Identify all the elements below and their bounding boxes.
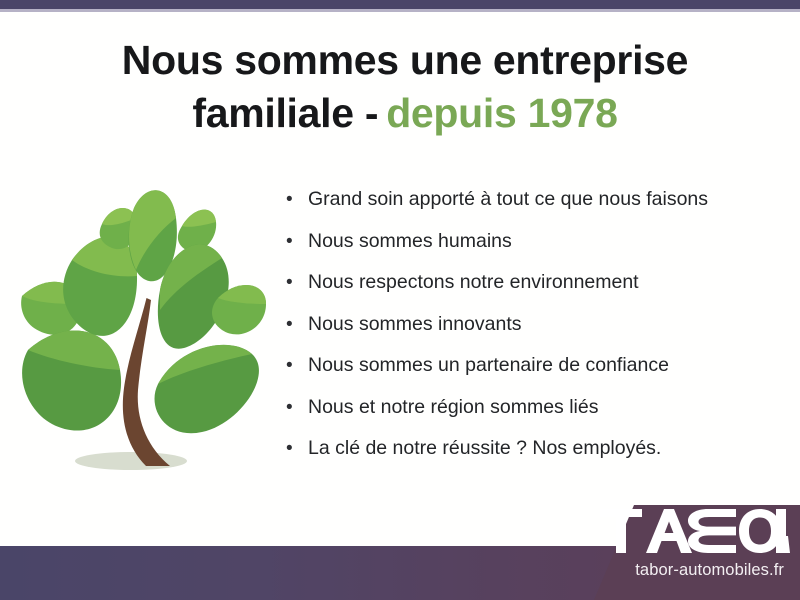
bullet-point-icon: • [286,398,308,417]
list-item: • Nous respectons notre environnement [286,273,756,315]
heading-line-1: Nous sommes une entreprise [122,37,688,83]
list-item-label: Grand soin apporté à tout ce que nous fa… [308,190,756,210]
list-item-label: Nous sommes un partenaire de confiance [308,356,756,376]
tree-shadow [75,452,187,470]
list-item: • Nous sommes innovants [286,315,756,357]
list-item: • Grand soin apporté à tout ce que nous … [286,190,756,232]
bullet-point-icon: • [286,232,308,251]
list-item: • Nous sommes humains [286,232,756,274]
list-item-label: Nous sommes humains [308,232,756,252]
bullet-point-icon: • [286,190,308,209]
tree-illustration [18,178,284,494]
top-accent-bar [0,0,800,9]
bullet-point-icon: • [286,315,308,334]
logo-letter-a [646,509,692,553]
logo-letter-o [739,509,781,553]
list-item: • La clé de notre réussite ? Nos employé… [286,439,756,481]
logo-letter-t [600,509,642,553]
leaf-bottom-right [155,345,259,433]
top-accent-line [0,9,800,12]
bullet-point-icon: • [286,273,308,292]
list-item: • Nous et notre région sommes liés [286,398,756,440]
heading-line-2-green: depuis 1978 [386,90,617,136]
logo-letter-b-mirrored [688,509,736,553]
bullet-point-icon: • [286,356,308,375]
list-item-label: Nous et notre région sommes liés [308,398,756,418]
slide-canvas: Nous sommes une entreprise familiale -de… [0,0,800,600]
bullet-point-icon: • [286,439,308,458]
list-item-label: Nous sommes innovants [308,315,756,335]
page-title: Nous sommes une entreprise familiale -de… [60,34,750,141]
tabor-logo [600,509,790,553]
logo-letter-r-body [776,509,786,553]
list-item: • Nous sommes un partenaire de confiance [286,356,756,398]
leaf-bottom-left [22,331,121,431]
list-item-label: Nous respectons notre environnement [308,273,756,293]
brand-tagline: tabor-automobiles.fr [548,561,792,580]
heading-line-2-black: familiale - [192,90,378,136]
list-item-label: La clé de notre réussite ? Nos employés. [308,439,756,459]
value-proposition-list: • Grand soin apporté à tout ce que nous … [286,190,756,481]
